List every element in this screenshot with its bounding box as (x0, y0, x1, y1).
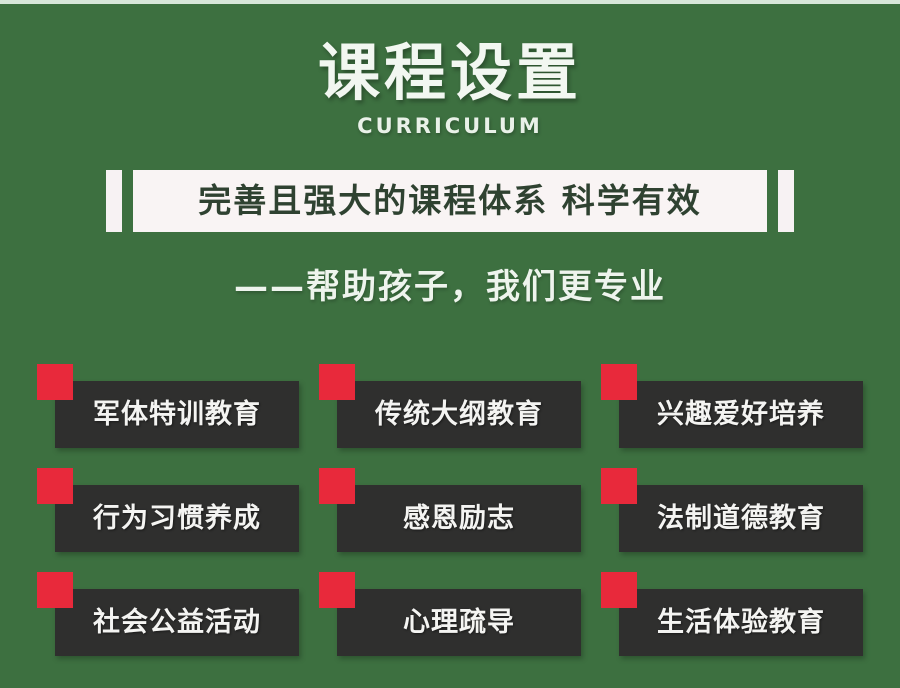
square-marker-icon (319, 364, 355, 400)
card-label: 行为习惯养成 (93, 503, 261, 535)
square-marker-icon (319, 572, 355, 608)
curriculum-card-5[interactable]: 感恩励志 (319, 468, 581, 552)
square-marker-icon (37, 468, 73, 504)
banner-right-gap (767, 170, 778, 232)
top-edge-strip (0, 0, 900, 4)
square-marker-icon (37, 364, 73, 400)
card-body[interactable]: 行为习惯养成 (55, 485, 299, 552)
curriculum-card-grid: 军体特训教育 传统大纲教育 兴趣爱好培养 行为习惯养成 感恩励志 (37, 364, 863, 666)
curriculum-poster: 课程设置 CURRICULUM 完善且强大的课程体系 科学有效 ——帮助孩子，我… (0, 0, 900, 688)
square-marker-icon (319, 468, 355, 504)
card-label: 法制道德教育 (657, 503, 825, 535)
banner-right-tick (778, 170, 794, 232)
curriculum-card-7[interactable]: 社会公益活动 (37, 572, 299, 656)
curriculum-card-3[interactable]: 兴趣爱好培养 (601, 364, 863, 448)
page-title: 课程设置 (0, 38, 900, 108)
card-body[interactable]: 感恩励志 (337, 485, 581, 552)
card-body[interactable]: 心理疏导 (337, 589, 581, 656)
square-marker-icon (601, 572, 637, 608)
card-label: 生活体验教育 (657, 607, 825, 639)
banner-left-gap (122, 170, 133, 232)
curriculum-card-6[interactable]: 法制道德教育 (601, 468, 863, 552)
card-body[interactable]: 法制道德教育 (619, 485, 863, 552)
card-body[interactable]: 传统大纲教育 (337, 381, 581, 448)
curriculum-card-8[interactable]: 心理疏导 (319, 572, 581, 656)
poster-header: 课程设置 CURRICULUM (0, 38, 900, 138)
headline-banner: 完善且强大的课程体系 科学有效 (0, 170, 900, 232)
curriculum-card-9[interactable]: 生活体验教育 (601, 572, 863, 656)
banner-left-tick (106, 170, 122, 232)
curriculum-card-2[interactable]: 传统大纲教育 (319, 364, 581, 448)
card-body[interactable]: 军体特训教育 (55, 381, 299, 448)
card-body[interactable]: 社会公益活动 (55, 589, 299, 656)
card-body[interactable]: 兴趣爱好培养 (619, 381, 863, 448)
card-label: 兴趣爱好培养 (657, 399, 825, 431)
card-label: 社会公益活动 (93, 607, 261, 639)
banner-plate: 完善且强大的课程体系 科学有效 (133, 170, 767, 232)
card-label: 感恩励志 (403, 503, 515, 535)
banner-text: 完善且强大的课程体系 科学有效 (198, 182, 702, 220)
card-body[interactable]: 生活体验教育 (619, 589, 863, 656)
curriculum-card-4[interactable]: 行为习惯养成 (37, 468, 299, 552)
card-label: 心理疏导 (403, 607, 515, 639)
square-marker-icon (37, 572, 73, 608)
square-marker-icon (601, 364, 637, 400)
card-label: 军体特训教育 (93, 399, 261, 431)
card-label: 传统大纲教育 (375, 399, 543, 431)
tagline: ——帮助孩子，我们更专业 (0, 265, 900, 309)
page-subtitle: CURRICULUM (0, 114, 900, 138)
square-marker-icon (601, 468, 637, 504)
curriculum-card-1[interactable]: 军体特训教育 (37, 364, 299, 448)
